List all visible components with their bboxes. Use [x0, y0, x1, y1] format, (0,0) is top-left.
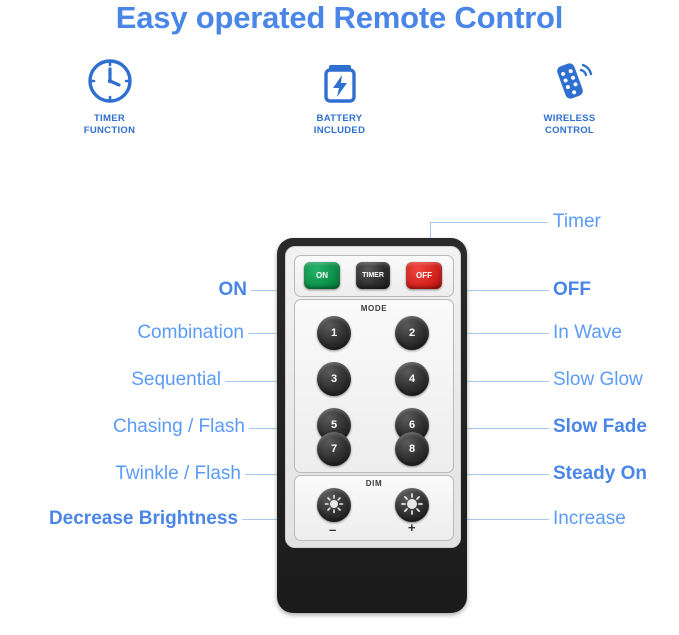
dim-plus-label: + [408, 520, 416, 535]
callout-increase: Increase [553, 508, 626, 530]
feature-label-line2: INCLUDED [314, 125, 365, 136]
feature-wireless-control: WIRELESS CONTROL [510, 55, 630, 137]
callout-slow-fade: Slow Fade [553, 416, 647, 438]
panel-dim: DIM [294, 475, 454, 541]
button-mode-4[interactable]: 4 [395, 362, 429, 396]
callout-on: ON [219, 279, 248, 301]
remote-lower-body [295, 556, 449, 604]
button-increase-brightness[interactable] [395, 488, 429, 522]
button-mode-2[interactable]: 2 [395, 316, 429, 350]
leader-line-timer-h [430, 222, 548, 223]
callout-steady-on: Steady On [553, 463, 647, 485]
feature-label: TIMER FUNCTION [84, 113, 135, 137]
remote-faceplate: ON TIMER OFF MODE 1 2 3 4 5 6 7 8 DIM [285, 246, 461, 548]
callout-slow-glow: Slow Glow [553, 369, 643, 391]
panel-power: ON TIMER OFF [294, 255, 454, 297]
battery-icon [314, 55, 366, 107]
callout-off: OFF [553, 279, 591, 301]
feature-timer-function: TIMER FUNCTION [50, 55, 170, 137]
mode-label: MODE [295, 304, 453, 313]
button-mode-8[interactable]: 8 [395, 432, 429, 466]
button-decrease-brightness[interactable] [317, 488, 351, 522]
feature-label: BATTERY INCLUDED [314, 113, 365, 137]
callout-twinkle-flash: Twinkle / Flash [115, 463, 241, 485]
remote-icon [544, 55, 596, 107]
page-title: Easy operated Remote Control [0, 0, 679, 36]
leader-line-timer-v [430, 222, 431, 238]
button-off[interactable]: OFF [406, 262, 442, 289]
button-timer[interactable]: TIMER [356, 262, 390, 289]
clock-icon [84, 55, 136, 107]
callout-decrease-brightness: Decrease Brightness [49, 508, 238, 530]
callout-combination: Combination [137, 322, 244, 344]
callout-timer: Timer [553, 211, 601, 233]
panel-mode: MODE 1 2 3 4 5 6 7 8 [294, 299, 454, 473]
feature-label-line1: WIRELESS [543, 113, 595, 124]
remote-control: ON TIMER OFF MODE 1 2 3 4 5 6 7 8 DIM [277, 238, 467, 613]
feature-label-line1: TIMER [94, 113, 125, 124]
button-mode-3[interactable]: 3 [317, 362, 351, 396]
feature-label-line2: CONTROL [545, 125, 594, 136]
button-mode-7[interactable]: 7 [317, 432, 351, 466]
feature-battery-included: BATTERY INCLUDED [280, 55, 400, 137]
sun-large-icon [401, 493, 423, 517]
button-on[interactable]: ON [304, 262, 340, 289]
feature-label: WIRELESS CONTROL [543, 113, 595, 137]
feature-label-line1: BATTERY [317, 113, 363, 124]
dim-minus-label: – [329, 522, 336, 537]
callout-sequential: Sequential [131, 369, 221, 391]
poster-root: Easy operated Remote Control TIMER FUNCT… [0, 0, 679, 635]
callout-in-wave: In Wave [553, 322, 622, 344]
sun-small-icon [324, 494, 344, 516]
callout-chasing-flash: Chasing / Flash [113, 416, 245, 438]
feature-label-line2: FUNCTION [84, 125, 135, 136]
button-mode-1[interactable]: 1 [317, 316, 351, 350]
feature-list: TIMER FUNCTION BATTERY INCLUDED [0, 55, 679, 137]
dim-label: DIM [295, 479, 453, 488]
